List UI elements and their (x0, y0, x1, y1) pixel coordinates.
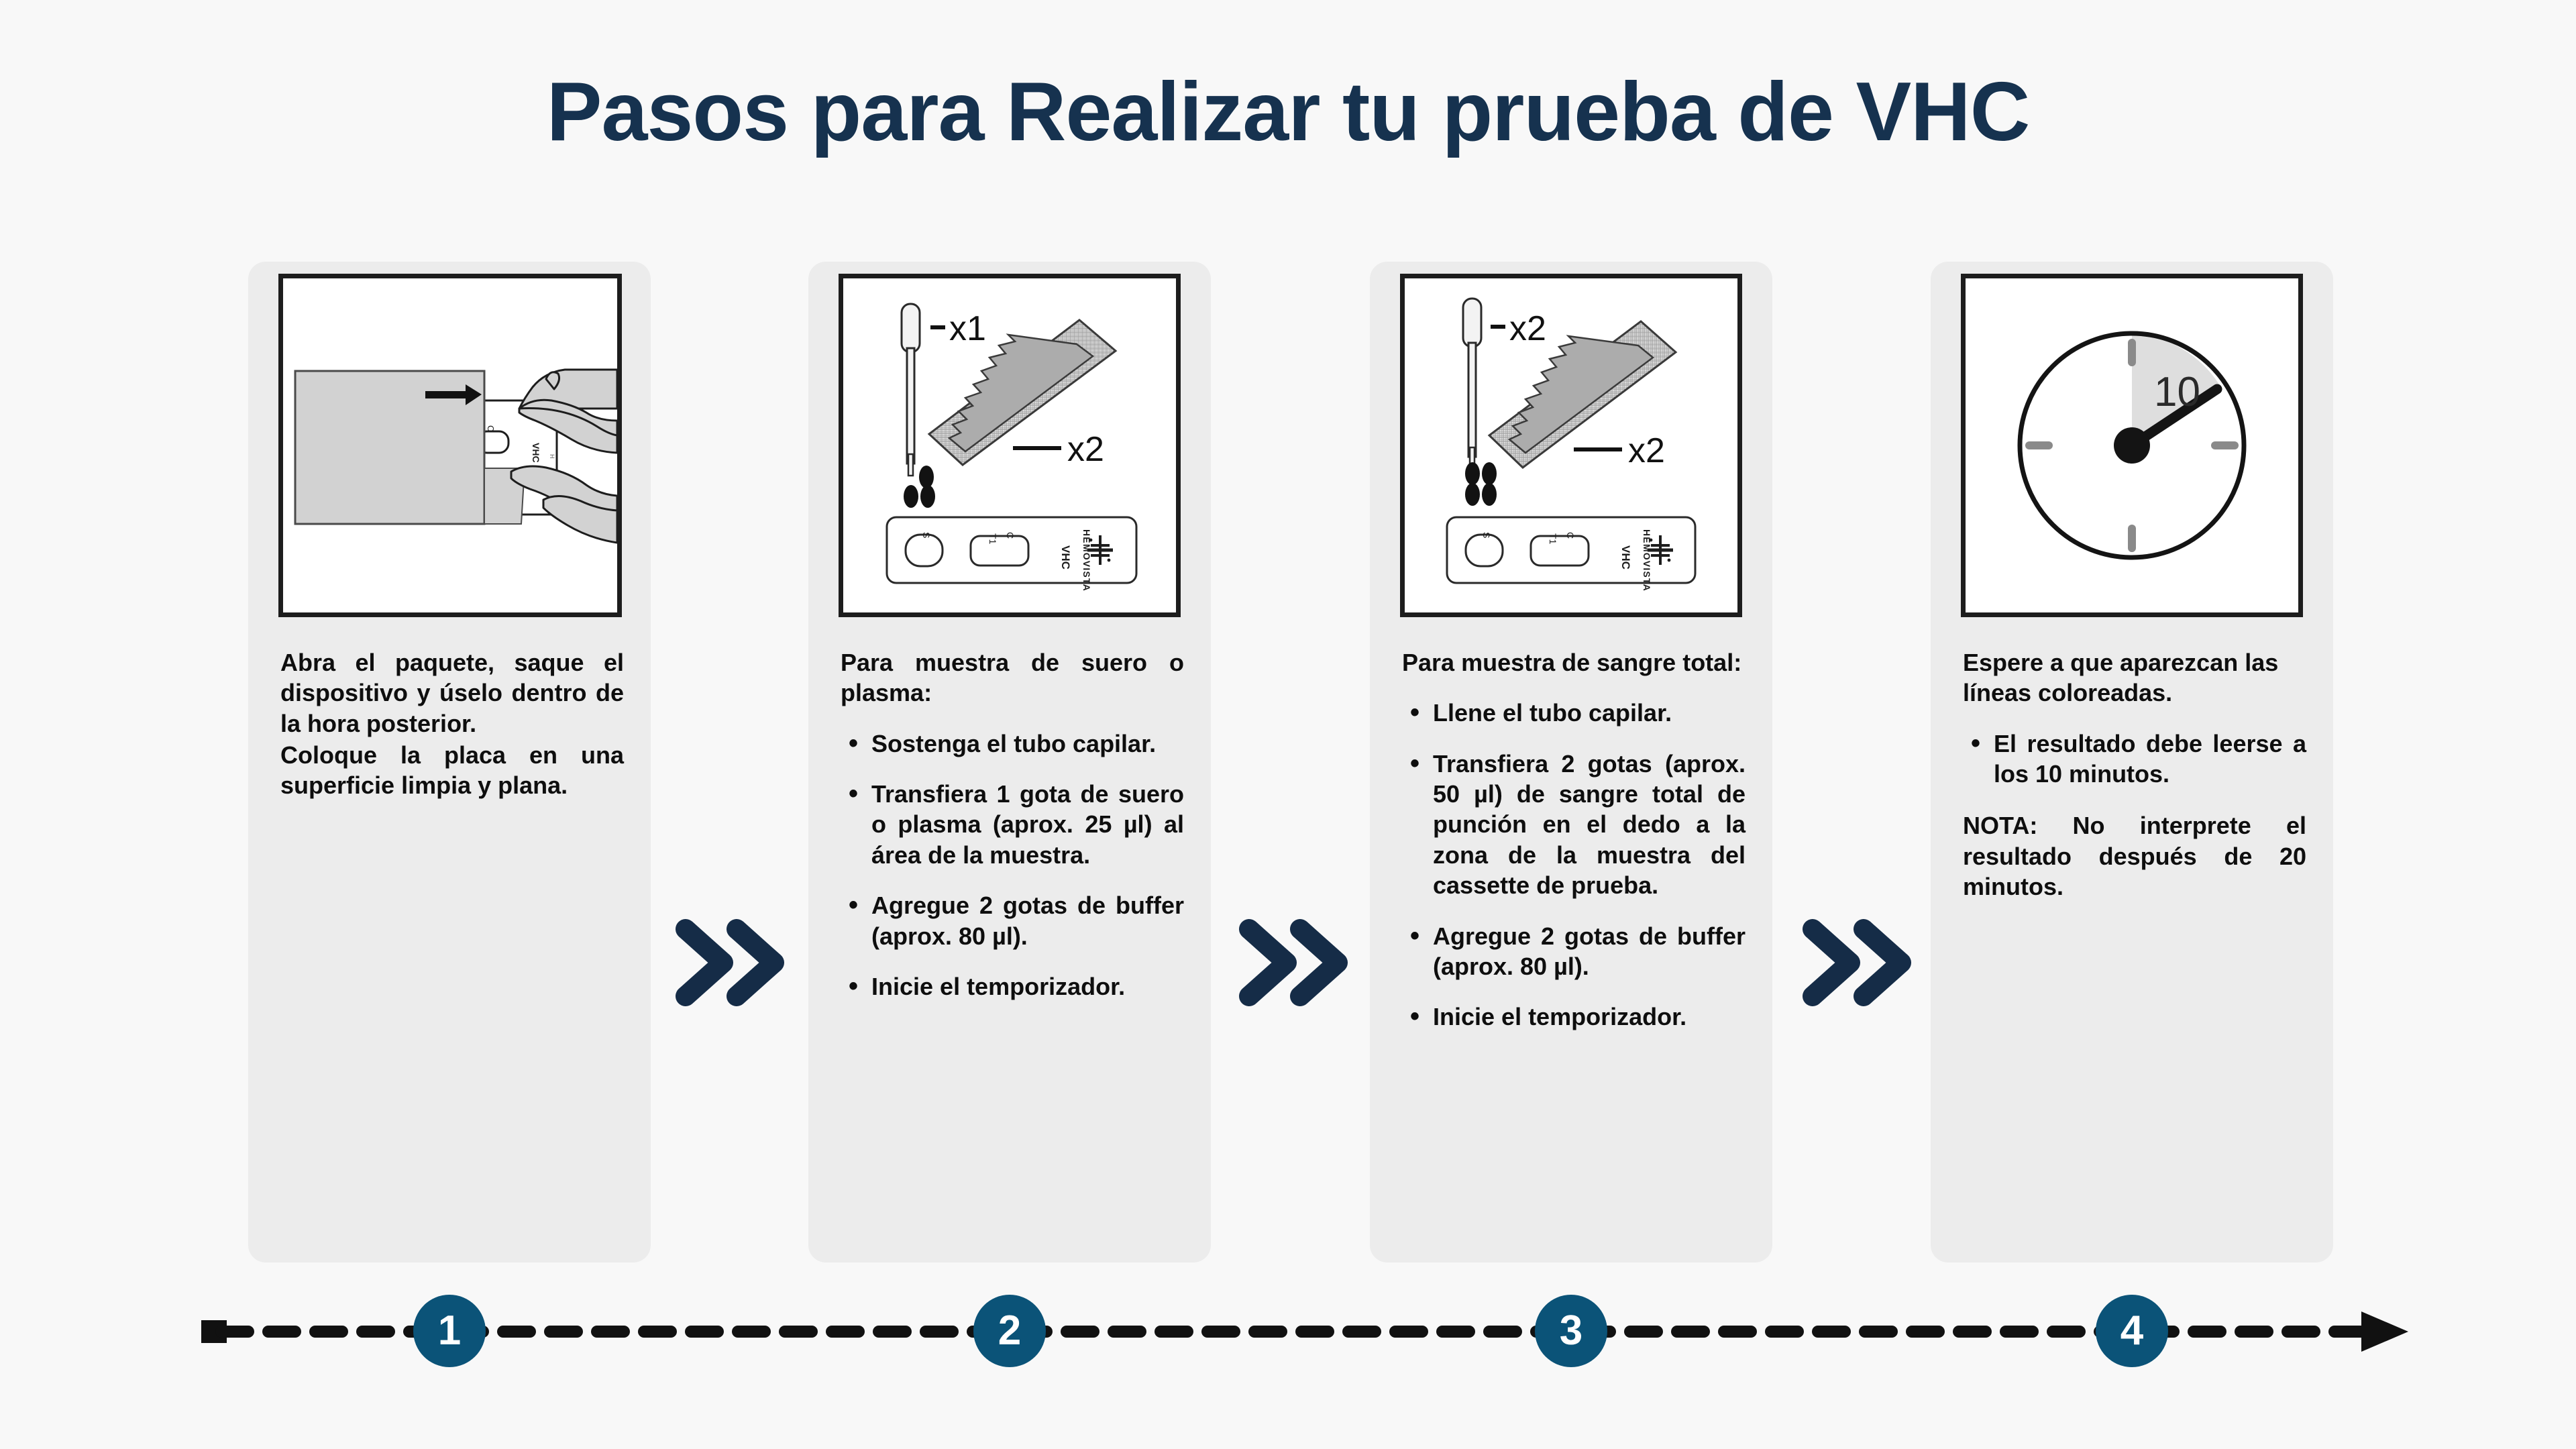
pipette-buffer-cassette-illustration: x2 x2 S T1 (1405, 278, 1737, 612)
chevron-separator-3 (1798, 916, 1919, 1010)
clock-value-label: 10 (2154, 369, 2200, 415)
step-card-4: 10 Espere a que aparezcan las líneas col… (1931, 262, 2333, 1263)
pipette-buffer-cassette-illustration: x1 x2 (843, 278, 1176, 612)
step-3-text: Para muestra de sangre total: Llene el t… (1402, 647, 1746, 1032)
timer-clock-illustration: 10 (1966, 278, 2298, 612)
list-item: Agregue 2 gotas de buffer (aprox. 80 µl)… (871, 890, 1184, 951)
svg-text:VHC: VHC (531, 443, 541, 463)
step-3-illustration: x2 x2 S T1 (1400, 274, 1742, 617)
svg-text:C: C (1565, 532, 1576, 539)
step-2-illustration: x1 x2 (839, 274, 1181, 617)
list-item: Transfiera 1 gota de suero o plasma (apr… (871, 779, 1184, 870)
buffer-count-label: x2 (1628, 431, 1665, 470)
list-item: Inicie el temporizador. (1433, 1002, 1746, 1032)
pipette-count-label: x2 (1509, 309, 1546, 348)
step-4-text: Espere a que aparezcan las líneas colore… (1963, 647, 2306, 904)
chevron-separator-1 (671, 916, 792, 1010)
step-1-paragraph-2: Coloque la placa en una superficie limpi… (280, 740, 624, 801)
timeline-step-2-label: 2 (998, 1310, 1021, 1352)
list-item: Agregue 2 gotas de buffer (aprox. 80 µl)… (1433, 921, 1746, 982)
svg-text:VHC: VHC (1619, 545, 1632, 570)
double-chevron-right-icon (671, 916, 792, 1010)
steps-cards-row: C VHC H (0, 262, 2576, 1268)
step-2-intro: Para muestra de suero o plasma: (841, 647, 1184, 708)
list-item: Transfiera 2 gotas (aprox. 50 µl) de san… (1433, 749, 1746, 901)
timeline-track (0, 1295, 2576, 1395)
timeline-arrow-icon (2361, 1311, 2408, 1352)
list-item: Inicie el temporizador. (871, 971, 1184, 1002)
step-card-3: x2 x2 S T1 (1370, 262, 1772, 1263)
list-item: Llene el tubo capilar. (1433, 698, 1746, 728)
steps-timeline: 1 2 3 4 (0, 1295, 2576, 1395)
step-3-intro: Para muestra de sangre total: (1402, 647, 1746, 678)
svg-text:S: S (1481, 532, 1492, 538)
double-chevron-right-icon (1798, 916, 1919, 1010)
svg-text:S: S (921, 532, 932, 538)
step-2-text: Para muestra de suero o plasma: Sostenga… (841, 647, 1184, 1002)
test-cassette-icon: S T1 C VHC HEMOVISTA (887, 517, 1136, 592)
step-1-paragraph-1: Abra el paquete, saque el dispositivo y … (280, 647, 624, 739)
pipette-count-label: x1 (949, 309, 986, 348)
step-4-illustration: 10 (1961, 274, 2303, 617)
svg-text:T1: T1 (987, 533, 998, 545)
svg-text:C: C (1005, 532, 1016, 539)
step-2-bullet-list: Sostenga el tubo capilar. Transfiera 1 g… (841, 729, 1184, 1002)
timeline-step-3[interactable]: 3 (1535, 1295, 1607, 1367)
test-cassette-icon: S T1 C VHC HEMOVISTA (1447, 517, 1695, 592)
svg-text:C: C (486, 425, 496, 431)
step-card-1: C VHC H (248, 262, 651, 1263)
step-1-illustration: C VHC H (278, 274, 622, 617)
list-item: Sostenga el tubo capilar. (871, 729, 1184, 759)
step-1-text: Abra el paquete, saque el dispositivo y … (280, 647, 624, 802)
page-title: Pasos para Realizar tu prueba de VHC (0, 64, 2576, 160)
step-card-2: x1 x2 (808, 262, 1211, 1263)
svg-text:VHC: VHC (1059, 545, 1072, 570)
list-item: El resultado debe leerse a los 10 minuto… (1994, 729, 2306, 790)
double-chevron-right-icon (1234, 916, 1355, 1010)
step-4-note: NOTA: No interprete el resultado después… (1963, 810, 2306, 902)
chevron-separator-2 (1234, 916, 1355, 1010)
step-4-intro: Espere a que aparezcan las líneas colore… (1963, 647, 2306, 708)
svg-text:T1: T1 (1548, 533, 1558, 545)
buffer-count-label: x2 (1067, 430, 1104, 469)
pouch-open-illustration: C VHC H (283, 278, 617, 612)
timeline-step-4-label: 4 (2121, 1310, 2143, 1352)
timeline-step-2[interactable]: 2 (973, 1295, 1046, 1367)
timeline-step-1-label: 1 (438, 1310, 461, 1352)
step-4-bullet-list: El resultado debe leerse a los 10 minuto… (1963, 729, 2306, 790)
timeline-step-4[interactable]: 4 (2096, 1295, 2168, 1367)
timeline-step-3-label: 3 (1560, 1310, 1582, 1352)
svg-text:H: H (549, 454, 555, 459)
timeline-step-1[interactable]: 1 (413, 1295, 486, 1367)
step-3-bullet-list: Llene el tubo capilar. Transfiera 2 gota… (1402, 698, 1746, 1032)
